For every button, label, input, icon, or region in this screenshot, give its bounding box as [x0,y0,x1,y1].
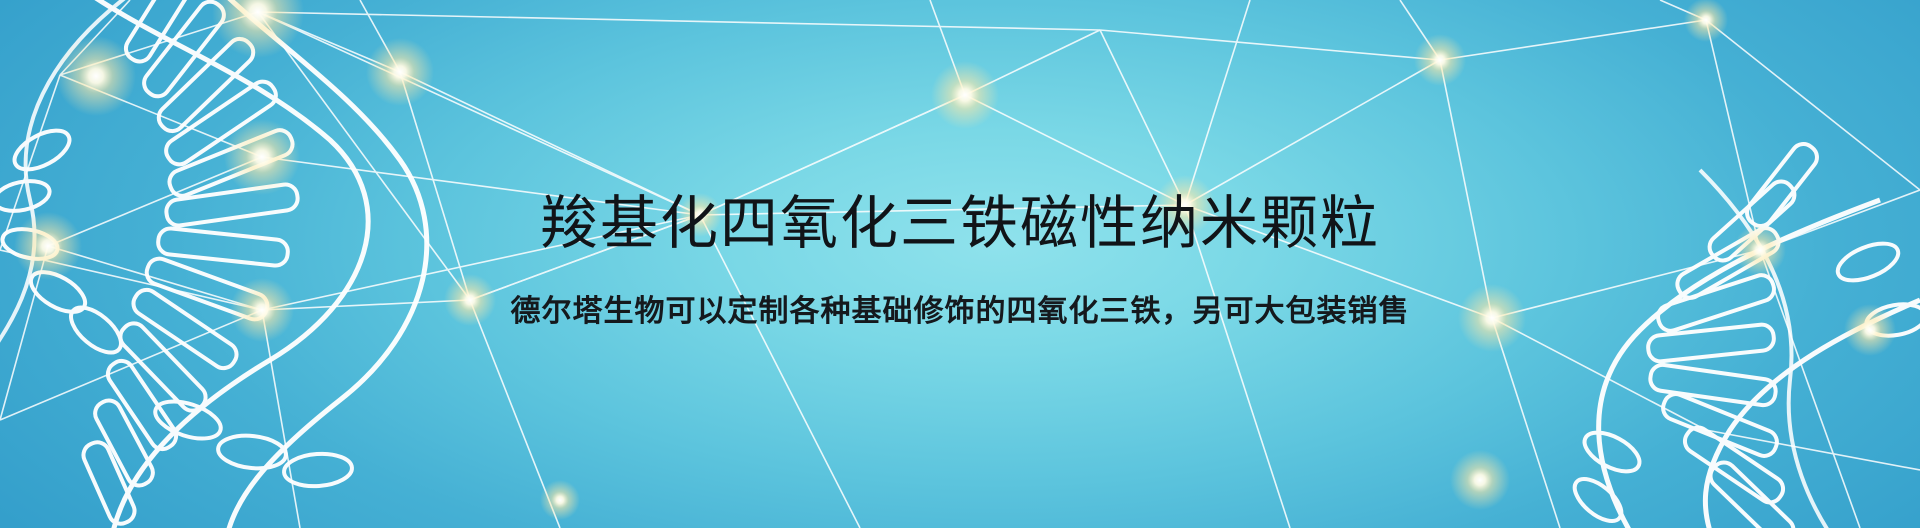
banner-content: 羧基化四氧化三铁磁性纳米颗粒 德尔塔生物可以定制各种基础修饰的四氧化三铁，另可大… [0,0,1920,528]
banner-subtitle: 德尔塔生物可以定制各种基础修饰的四氧化三铁，另可大包装销售 [511,297,1410,327]
banner-title: 羧基化四氧化三铁磁性纳米颗粒 [540,195,1380,253]
hero-banner: 羧基化四氧化三铁磁性纳米颗粒 德尔塔生物可以定制各种基础修饰的四氧化三铁，另可大… [0,0,1920,528]
